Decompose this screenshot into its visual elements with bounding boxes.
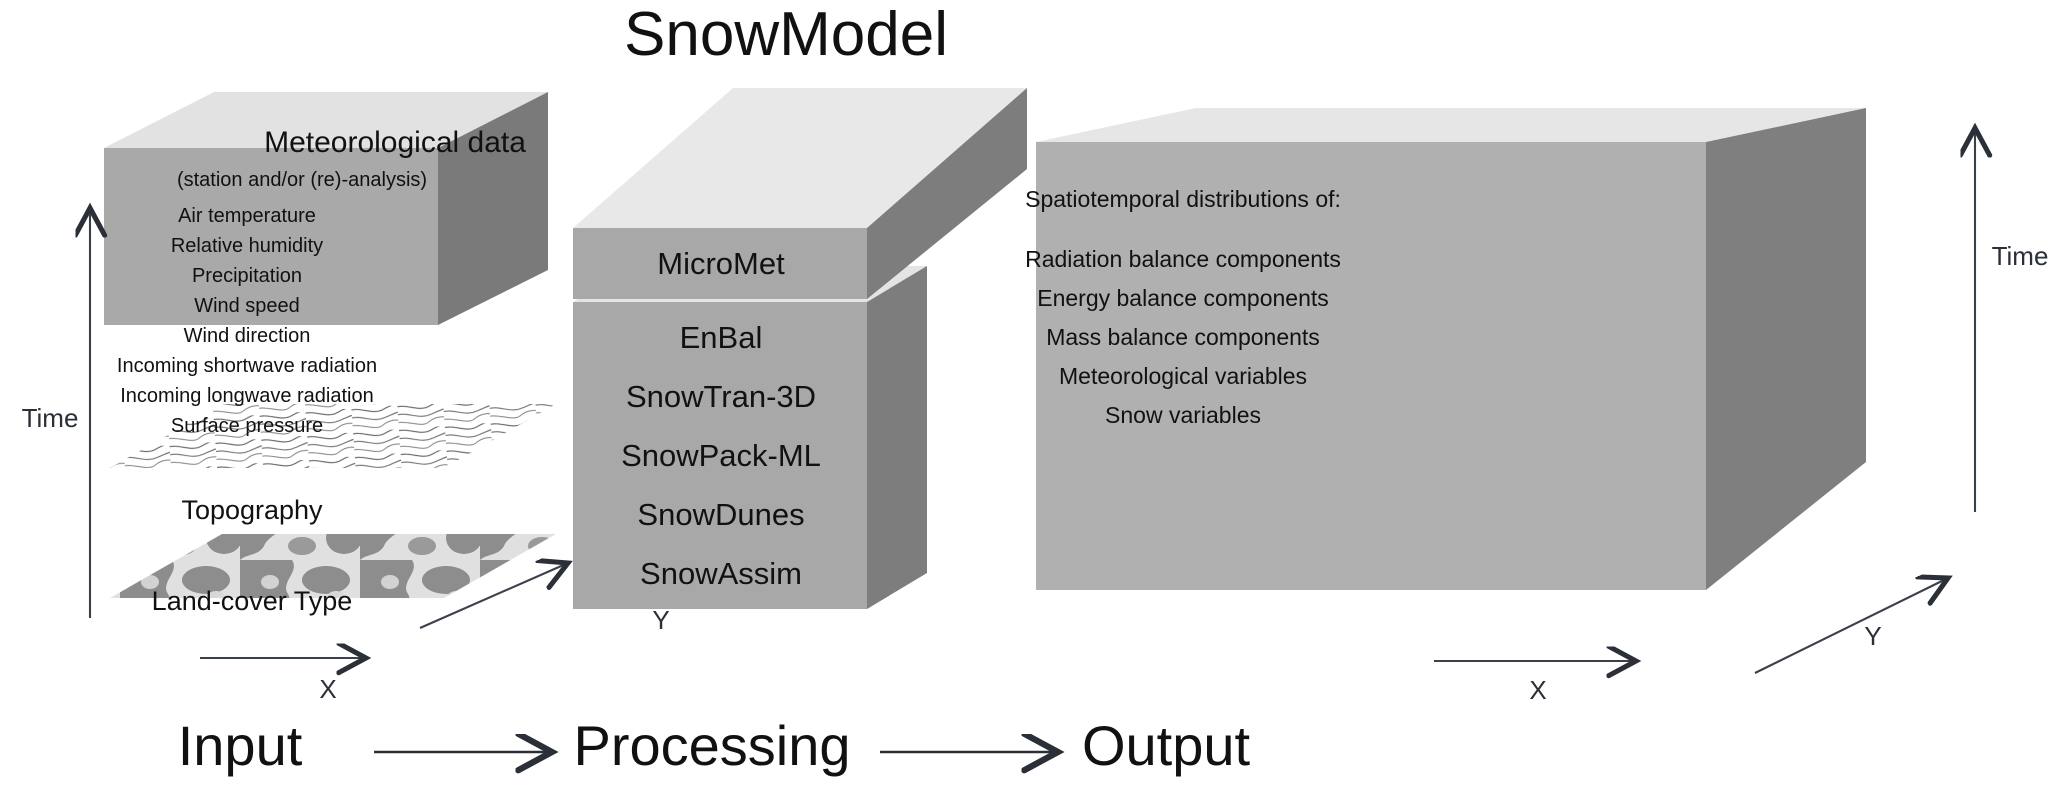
output-item: Mass balance components xyxy=(1046,326,1320,349)
input-x-axis-label: X xyxy=(319,676,336,702)
landcover-label: Land-cover Type xyxy=(152,588,353,615)
stage-label-processing: Processing xyxy=(573,718,850,774)
output-item: Snow variables xyxy=(1105,404,1261,427)
output-heading: Spatiotemporal distributions of: xyxy=(1025,188,1341,211)
slab-label-micromet: MicroMet xyxy=(657,248,784,279)
met-cube-title: Meteorological data xyxy=(264,128,526,158)
met-variable: Relative humidity xyxy=(171,236,323,256)
stage-label-input: Input xyxy=(178,718,303,774)
input-time-axis-label: Time xyxy=(22,405,79,431)
met-variable: Wind direction xyxy=(184,326,311,346)
met-variable: Wind speed xyxy=(194,296,300,316)
output-item: Radiation balance components xyxy=(1025,248,1341,271)
met-variable: Incoming shortwave radiation xyxy=(117,356,377,376)
slab-label-snowdunes: SnowDunes xyxy=(637,499,804,530)
slab-label-snowassim: SnowAssim xyxy=(640,558,802,589)
met-variable: Precipitation xyxy=(192,266,302,286)
output-item: Meteorological variables xyxy=(1059,365,1307,388)
slab-label-enbal: EnBal xyxy=(680,322,763,353)
output-time-axis-label: Time xyxy=(1992,243,2049,269)
output-y-axis-label: Y xyxy=(1864,623,1881,649)
slab-label-snowtran-3d: SnowTran-3D xyxy=(626,381,816,412)
snowmodel-diagram: SnowModel xyxy=(0,0,2067,789)
met-cube-subtitle: (station and/or (re)-analysis) xyxy=(177,170,427,190)
slab-label-snowpack-ml: SnowPack-ML xyxy=(621,440,821,471)
output-item: Energy balance components xyxy=(1037,287,1329,310)
slab-micromet xyxy=(573,88,1027,299)
topography-label: Topography xyxy=(181,497,322,524)
stage-label-output: Output xyxy=(1082,718,1250,774)
output-x-axis-label: X xyxy=(1529,677,1546,703)
met-variable: Incoming longwave radiation xyxy=(120,386,374,406)
met-variable: Surface pressure xyxy=(171,416,323,436)
output-y-axis xyxy=(1755,578,1948,673)
met-variable: Air temperature xyxy=(178,206,316,226)
input-y-axis-label: Y xyxy=(652,607,669,633)
